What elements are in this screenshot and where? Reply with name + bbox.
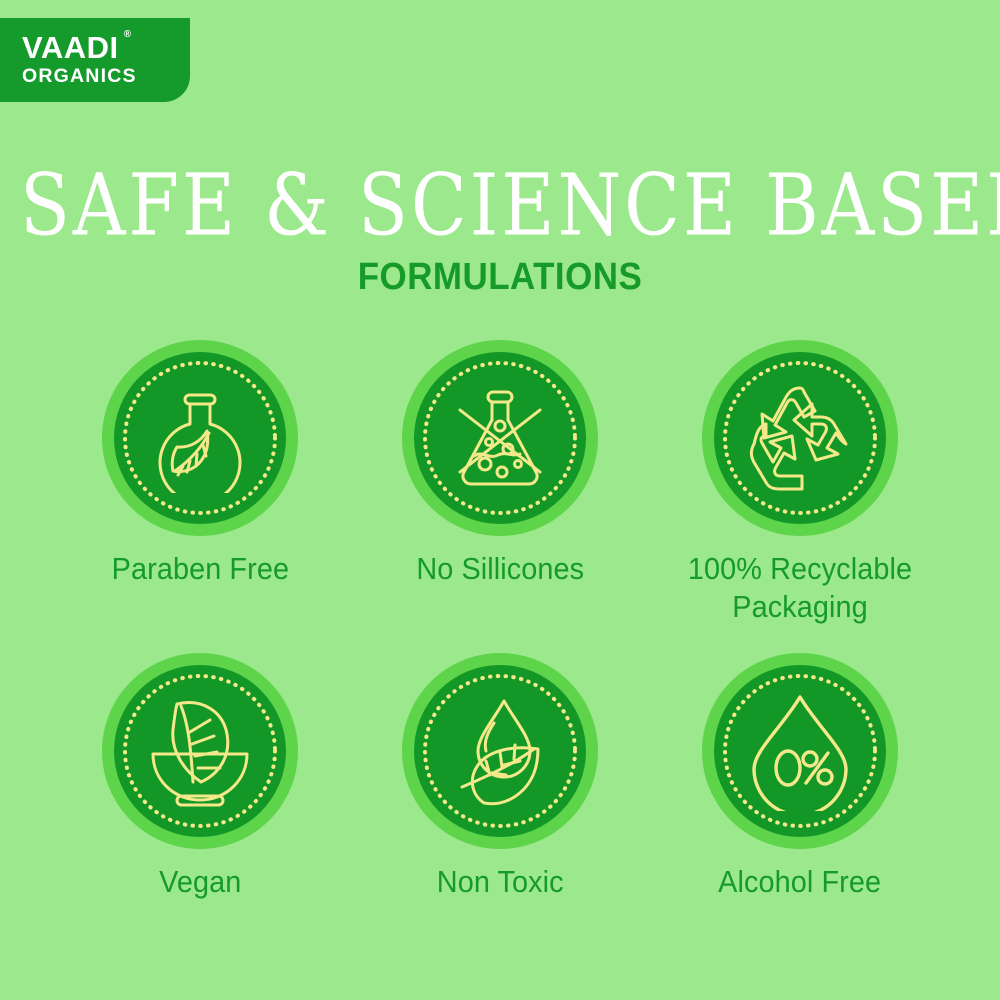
badge-halo: [102, 653, 298, 849]
feature-badge: No Sillicones: [350, 340, 650, 627]
badge-label: 100% Recyclable Packaging: [661, 550, 940, 627]
feature-badge: Alcohol Free: [650, 653, 950, 901]
promo-poster: VAADI® ORGANICS SAFE & SCIENCE BASED FOR…: [0, 0, 1000, 1000]
badge-halo: [402, 653, 598, 849]
badge-label: Vegan: [159, 863, 241, 901]
badge-label: Paraben Free: [111, 550, 288, 588]
brand-logo-primary: VAADI®: [22, 32, 119, 64]
badge-halo: [702, 653, 898, 849]
droplet-leaf-icon: [414, 665, 586, 837]
brand-logo-primary-text: VAADI: [22, 30, 119, 65]
brand-logo: VAADI® ORGANICS: [0, 18, 190, 102]
recycle-icon: [714, 352, 886, 524]
feature-badge: Vegan: [50, 653, 350, 901]
badge-label: Alcohol Free: [719, 863, 882, 901]
droplet-zero-percent-icon: [714, 665, 886, 837]
badge-halo: [702, 340, 898, 536]
badge-label: Non Toxic: [437, 863, 564, 901]
bowl-leaf-icon: [114, 665, 286, 837]
feature-badge: Paraben Free: [50, 340, 350, 627]
brand-logo-secondary: ORGANICS: [22, 65, 137, 87]
flask-leaf-icon: [114, 352, 286, 524]
badge-halo: [102, 340, 298, 536]
feature-badge-grid: Paraben Free: [50, 340, 950, 901]
page-title: SAFE & SCIENCE BASED: [20, 163, 980, 248]
badge-halo: [402, 340, 598, 536]
badge-label: No Sillicones: [416, 550, 584, 588]
flask-crossed-out-icon: [414, 352, 586, 524]
page-subtitle: FORMULATIONS: [40, 258, 960, 296]
registered-trademark-icon: ®: [124, 30, 132, 40]
feature-badge: 100% Recyclable Packaging: [650, 340, 950, 627]
feature-badge: Non Toxic: [350, 653, 650, 901]
